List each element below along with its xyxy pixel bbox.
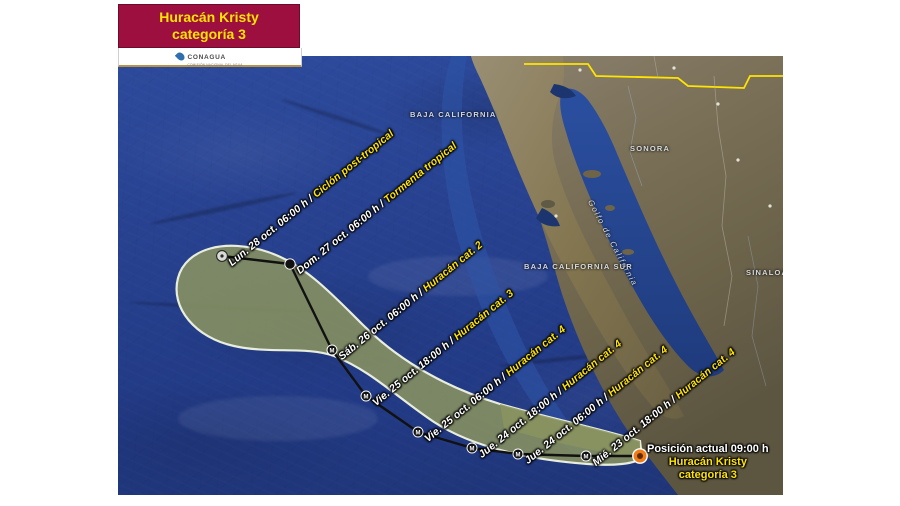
- conagua-logo-text: CONAGUA COMISIÓN NACIONAL DEL AGUA: [187, 46, 242, 68]
- svg-text:M: M: [330, 349, 335, 355]
- banner-title-line1: Huracán Kristy: [159, 9, 259, 26]
- svg-text:M: M: [364, 395, 369, 401]
- svg-text:M: M: [584, 455, 589, 461]
- forecast-map[interactable]: BAJA CALIFORNIA SONORA Golfo de Californ…: [118, 56, 783, 495]
- svg-text:M: M: [516, 453, 521, 459]
- hurricane-forecast-graphic: BAJA CALIFORNIA SONORA Golfo de Californ…: [0, 0, 900, 506]
- current-position-marker: [633, 449, 647, 463]
- svg-text:M: M: [470, 447, 475, 453]
- conagua-logo-bar: CONAGUA COMISIÓN NACIONAL DEL AGUA: [118, 48, 302, 67]
- forecast-track-layer: M M M M M M: [118, 56, 783, 495]
- water-drop-icon: [175, 51, 186, 62]
- banner-title-line2: categoría 3: [172, 26, 246, 43]
- svg-text:M: M: [416, 431, 421, 437]
- title-banner: Huracán Kristy categoría 3: [118, 4, 300, 48]
